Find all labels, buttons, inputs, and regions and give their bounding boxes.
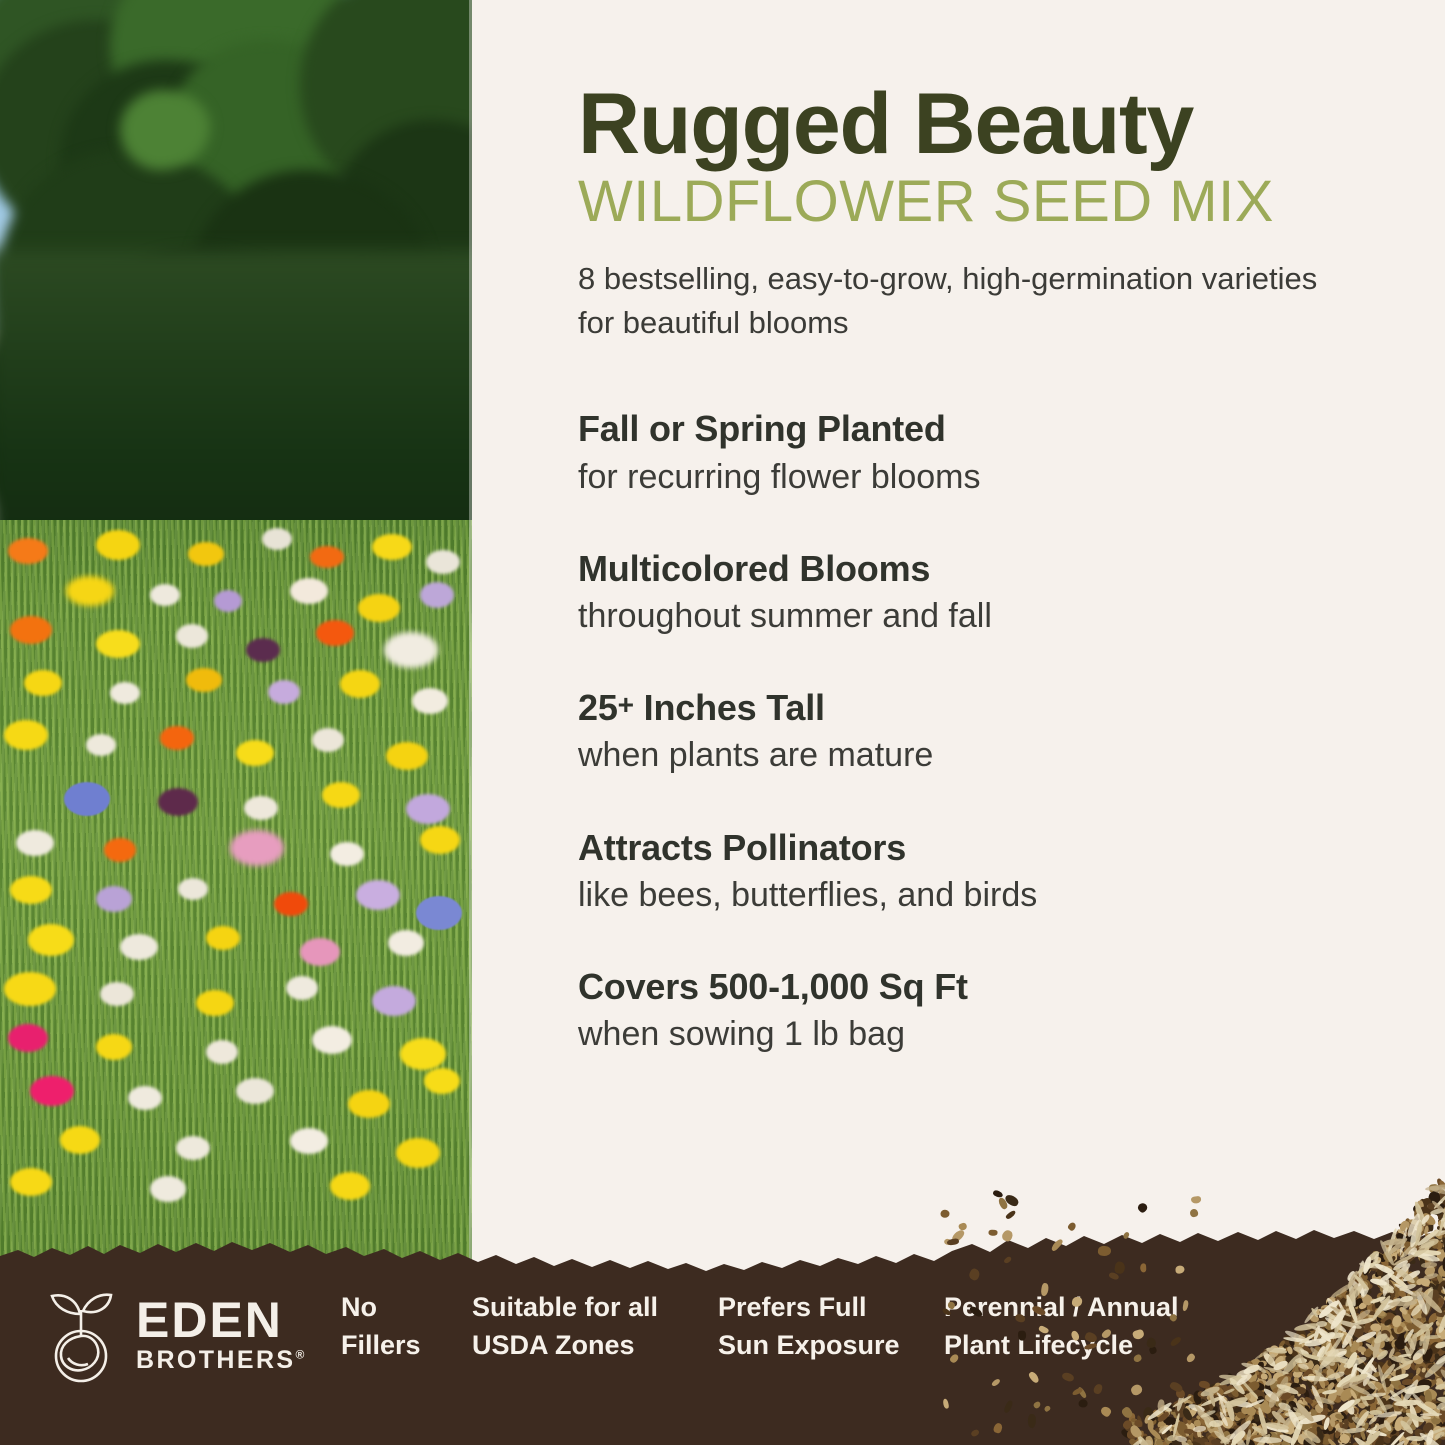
seed [1425, 1215, 1436, 1227]
wildflower-meadow-photo [0, 0, 472, 1300]
feature-headline-number: 25 [578, 687, 618, 728]
page-subtitle: WILDFLOWER SEED MIX [578, 172, 1418, 231]
feature-detail: when plants are mature [578, 733, 1418, 777]
feature-headline-rest: Inches Tall [634, 687, 825, 728]
footer-feature-line1: Suitable for all [472, 1288, 658, 1326]
seed [1419, 1226, 1425, 1233]
seed [1429, 1183, 1440, 1193]
seed [1406, 1220, 1415, 1227]
scattered-seed [1067, 1222, 1077, 1233]
seed [1413, 1214, 1427, 1228]
feature-headline-plus: + [618, 689, 634, 720]
seed [1438, 1189, 1445, 1196]
seed-husk [1414, 1201, 1428, 1228]
seed-husk [1405, 1213, 1422, 1238]
seed-husk [1431, 1200, 1445, 1215]
feature-headline: Multicolored Blooms [578, 547, 1418, 590]
footer-feature-line1: Perennial / Annual [944, 1288, 1179, 1326]
seed [1433, 1204, 1445, 1221]
seed [1427, 1203, 1438, 1211]
footer-feature-plant-lifecycle: Perennial / Annual Plant Lifecycle [944, 1288, 1179, 1365]
seed [1424, 1225, 1430, 1234]
seed [1408, 1216, 1420, 1229]
footer-feature-no-fillers: No Fillers [341, 1288, 421, 1365]
feature-item: Multicolored Blooms throughout summer an… [578, 547, 1418, 638]
scattered-seed [944, 1239, 952, 1246]
feature-item: Covers 500-1,000 Sq Ft when sowing 1 lb … [578, 965, 1418, 1056]
seed [1422, 1204, 1435, 1217]
product-infographic: Rugged Beauty WILDFLOWER SEED MIX 8 best… [0, 0, 1445, 1445]
scattered-seed [1190, 1195, 1201, 1204]
seed [1414, 1207, 1419, 1218]
seed [1437, 1217, 1445, 1231]
seed [1439, 1212, 1445, 1229]
seed [1417, 1225, 1427, 1235]
seed [1421, 1220, 1434, 1234]
seed [1411, 1219, 1423, 1230]
seed [1435, 1201, 1445, 1215]
sprout-seed-icon [38, 1284, 124, 1384]
feature-headline: 25+ Inches Tall [578, 686, 1418, 729]
seed [1417, 1200, 1425, 1211]
seed [1422, 1196, 1433, 1206]
seed [1426, 1204, 1434, 1214]
seed [1437, 1191, 1445, 1202]
seed [1428, 1190, 1439, 1204]
seed [1414, 1218, 1421, 1226]
scattered-seed [992, 1189, 1004, 1199]
footer-bar: EDEN BROTHERS® No Fillers Suitable for a… [0, 1230, 1445, 1445]
logo-wordmark-secondary: BROTHERS® [136, 1348, 307, 1373]
scattered-seed [941, 1210, 950, 1218]
seed [1412, 1203, 1425, 1214]
seed [1419, 1226, 1425, 1235]
seed [1408, 1219, 1423, 1227]
seed [1405, 1218, 1410, 1226]
seed [1441, 1209, 1445, 1222]
seed [1419, 1207, 1430, 1216]
seed [1421, 1202, 1436, 1217]
footer-feature-line2: Plant Lifecycle [944, 1326, 1179, 1364]
seed [1418, 1198, 1429, 1210]
footer-feature-line2: Sun Exposure [718, 1326, 900, 1364]
footer-feature-line1: Prefers Full [718, 1288, 900, 1326]
scattered-seed [997, 1196, 1009, 1210]
scattered-seed [946, 1238, 958, 1246]
seed [1398, 1222, 1408, 1231]
seed [1416, 1224, 1425, 1233]
seed [1434, 1181, 1445, 1193]
seed [1430, 1190, 1440, 1204]
seed-husk [1437, 1208, 1445, 1237]
scattered-seed [988, 1230, 997, 1236]
treeline [0, 0, 472, 600]
feature-headline: Fall or Spring Planted [578, 407, 1418, 450]
scattered-seed [1189, 1208, 1198, 1218]
wildflower-meadow [0, 520, 472, 1300]
page-title: Rugged Beauty [578, 0, 1418, 166]
seed [1437, 1220, 1445, 1228]
feature-detail: like bees, butterflies, and birds [578, 873, 1418, 917]
scattered-seed [1005, 1209, 1017, 1220]
seed-husk [1440, 1204, 1445, 1213]
scattered-seed [1136, 1201, 1149, 1214]
feature-item: Attracts Pollinators like bees, butterfl… [578, 826, 1418, 917]
feature-headline: Covers 500-1,000 Sq Ft [578, 965, 1418, 1008]
feature-detail: for recurring flower blooms [578, 455, 1418, 499]
seed [1437, 1216, 1445, 1226]
scattered-seed [958, 1222, 968, 1232]
seed [1441, 1206, 1445, 1213]
scattered-seed [950, 1228, 965, 1243]
feature-headline: Attracts Pollinators [578, 826, 1418, 869]
seed [1438, 1179, 1445, 1190]
seed [1429, 1219, 1434, 1231]
seed [1417, 1205, 1425, 1218]
seed [1410, 1220, 1414, 1226]
content-panel: Rugged Beauty WILDFLOWER SEED MIX 8 best… [578, 0, 1418, 1056]
seed [1438, 1215, 1445, 1221]
logo-wordmark-primary: EDEN [136, 1296, 307, 1344]
seed [1436, 1226, 1445, 1231]
seed [1398, 1220, 1410, 1233]
scattered-seed [1003, 1193, 1019, 1207]
seed [1404, 1224, 1415, 1234]
seed-husk [1433, 1194, 1445, 1210]
feature-detail: throughout summer and fall [578, 594, 1418, 638]
eden-brothers-logo: EDEN BROTHERS® [38, 1284, 307, 1384]
seed [1427, 1196, 1439, 1208]
registered-mark: ® [295, 1347, 306, 1361]
seed [1429, 1207, 1442, 1215]
feature-detail: when sowing 1 lb bag [578, 1012, 1418, 1056]
footer-feature-line1: No [341, 1288, 421, 1326]
seed [1437, 1203, 1445, 1211]
footer-feature-usda-zones: Suitable for all USDA Zones [472, 1288, 658, 1365]
feature-list: Fall or Spring Planted for recurring flo… [578, 407, 1418, 1056]
seed [1436, 1190, 1445, 1203]
photo-edge [469, 0, 472, 1300]
seed-husk [1425, 1184, 1445, 1192]
seed [1437, 1178, 1445, 1189]
seed [1417, 1221, 1426, 1230]
seed-husk [1429, 1184, 1445, 1197]
feature-item: 25+ Inches Tall when plants are mature [578, 686, 1418, 777]
tagline: 8 bestselling, easy-to-grow, high-germin… [578, 257, 1318, 345]
seed [1408, 1232, 1416, 1240]
footer-feature-line2: USDA Zones [472, 1326, 658, 1364]
seed [1421, 1211, 1438, 1227]
seed [1441, 1197, 1445, 1209]
seed-husk [1440, 1216, 1445, 1227]
seed-husk [1420, 1213, 1431, 1224]
footer-feature-sun-exposure: Prefers Full Sun Exposure [718, 1288, 900, 1365]
footer-feature-line2: Fillers [341, 1326, 421, 1364]
seed-husk [1430, 1207, 1445, 1215]
feature-item: Fall or Spring Planted for recurring flo… [578, 407, 1418, 498]
